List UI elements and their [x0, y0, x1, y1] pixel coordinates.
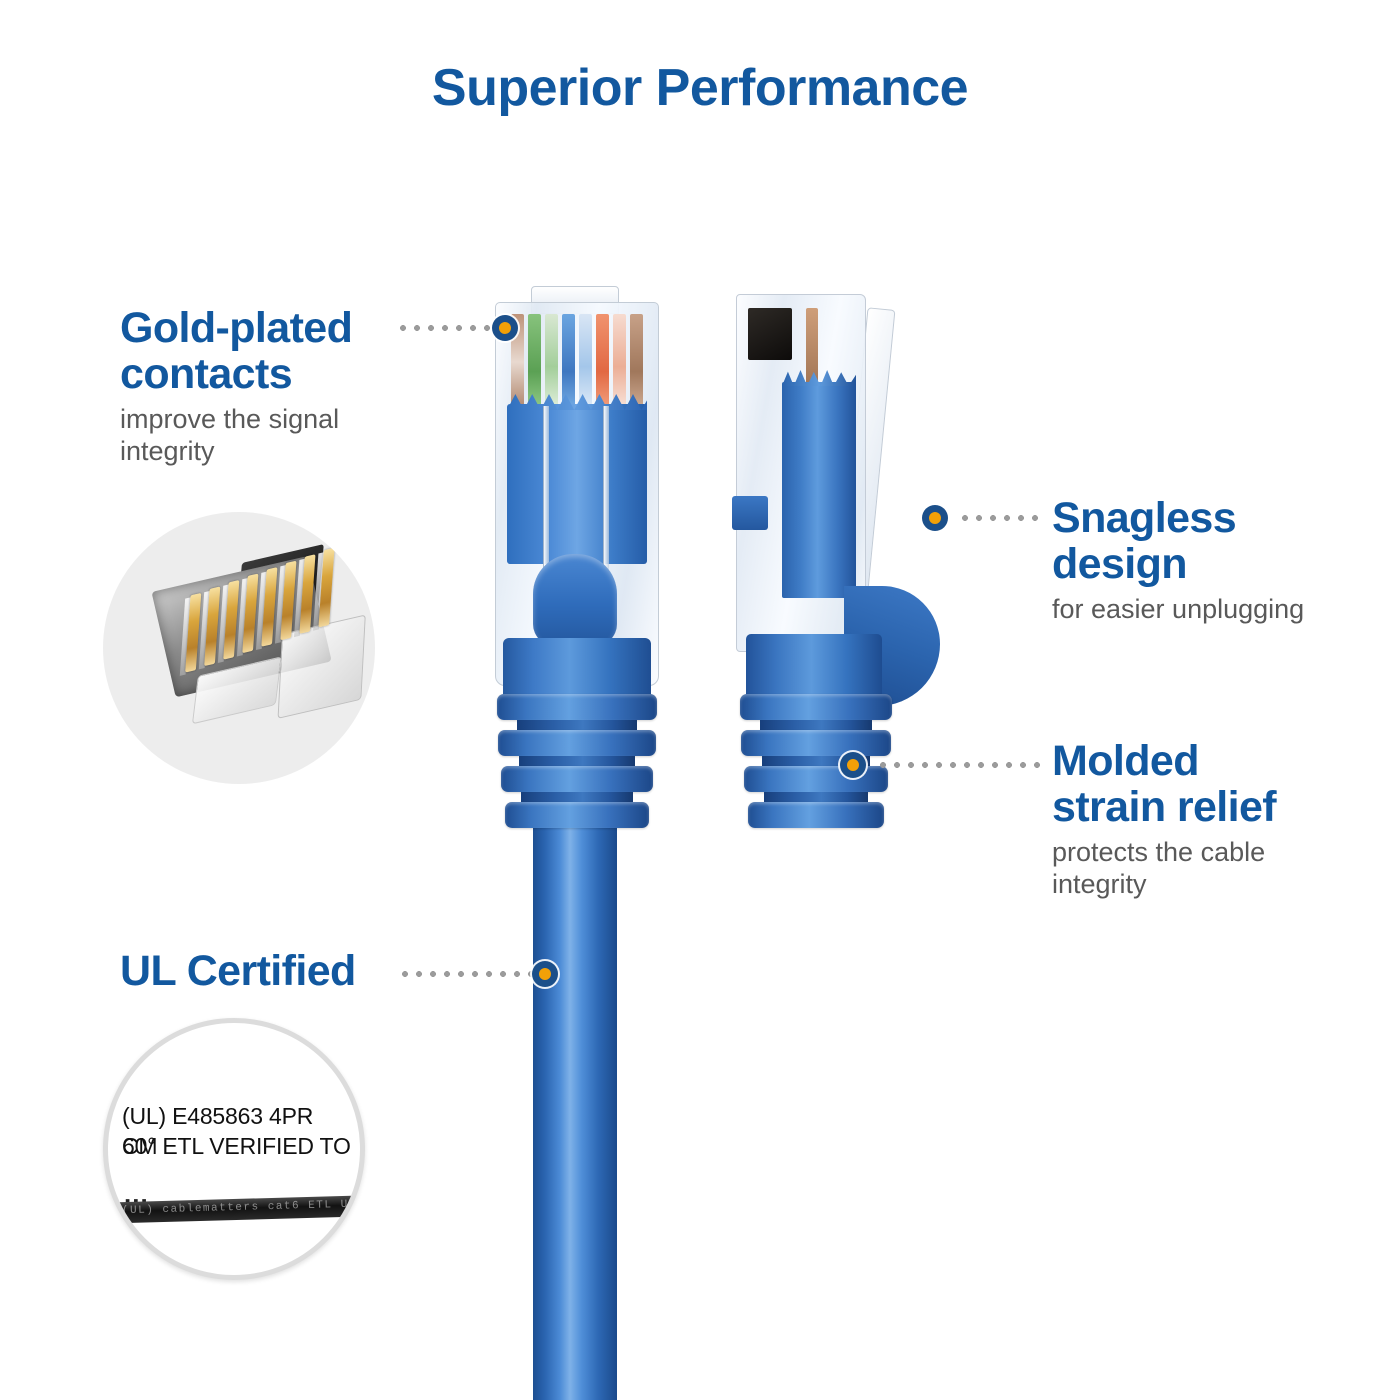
leader-line-molded-strain-relief [876, 762, 1042, 768]
leader-line-gold-plated-contacts [396, 325, 496, 331]
boot-clip [732, 496, 768, 530]
inset-gold-contacts [103, 512, 375, 784]
rj45-connector-front [487, 286, 665, 786]
callout-headline: Gold-plated contacts [120, 305, 410, 397]
rj45-connector-side [726, 286, 946, 786]
rib [748, 802, 884, 828]
wire-blue [562, 314, 575, 410]
callout-headline: UL Certified [120, 948, 410, 994]
wire-orange [596, 314, 609, 410]
rib [741, 730, 891, 756]
connector-contact-window [748, 308, 792, 360]
boot-head-left [503, 638, 651, 702]
callout-headline: Molded strain relief [1052, 738, 1382, 830]
callout-headline: Snagless design [1052, 495, 1352, 587]
cable-shaft [533, 760, 617, 1400]
marker-molded-strain-relief [840, 752, 866, 778]
wire-blue-white [579, 314, 592, 410]
rib [505, 802, 649, 828]
marker-ul-certified [532, 961, 558, 987]
wire-orange-white [613, 314, 626, 410]
connector-blue-insert [507, 404, 647, 564]
connector-blue-insert-side [782, 382, 856, 598]
callout-gold-plated-contacts: Gold-plated contacts improve the signal … [120, 305, 410, 468]
wire-green-white [545, 314, 558, 410]
wire-brown [630, 314, 643, 410]
ul-print-line-2: 60° ETL VERIFIED TO [122, 1131, 354, 1161]
rib [744, 766, 888, 792]
callout-subtext: improve the signal integrity [120, 404, 410, 468]
inset-ul-magnifier: (UL) E485863 4PR CM 60° ETL VERIFIED TO … [103, 1018, 365, 1280]
rj45-plug-illustration [120, 521, 375, 777]
marker-snagless-design [922, 505, 948, 531]
callout-molded-strain-relief: Molded strain relief protects the cable … [1052, 738, 1382, 901]
rib [497, 694, 657, 720]
leader-line-snagless-design [958, 515, 1042, 521]
callout-ul-certified: UL Certified [120, 948, 410, 994]
rib [501, 766, 653, 792]
boot-head-right [746, 634, 882, 702]
callout-subtext: for easier unplugging [1052, 594, 1352, 626]
rib [740, 694, 892, 720]
twisted-pair-wires [509, 314, 645, 410]
page-title: Superior Performance [0, 58, 1400, 118]
connector-thumb-grip [533, 554, 617, 646]
callout-snagless-design: Snagless design for easier unplugging [1052, 495, 1352, 626]
marker-gold-plated-contacts [492, 315, 518, 341]
leader-line-ul-certified [398, 971, 536, 977]
infographic-canvas: Superior Performance [0, 0, 1400, 1400]
cable-jacket-print: (UL) cablematters cat6 ETL UTP 4P [122, 1198, 365, 1217]
rib [498, 730, 656, 756]
wire-green [528, 314, 541, 410]
callout-subtext: protects the cable integrity [1052, 837, 1382, 901]
